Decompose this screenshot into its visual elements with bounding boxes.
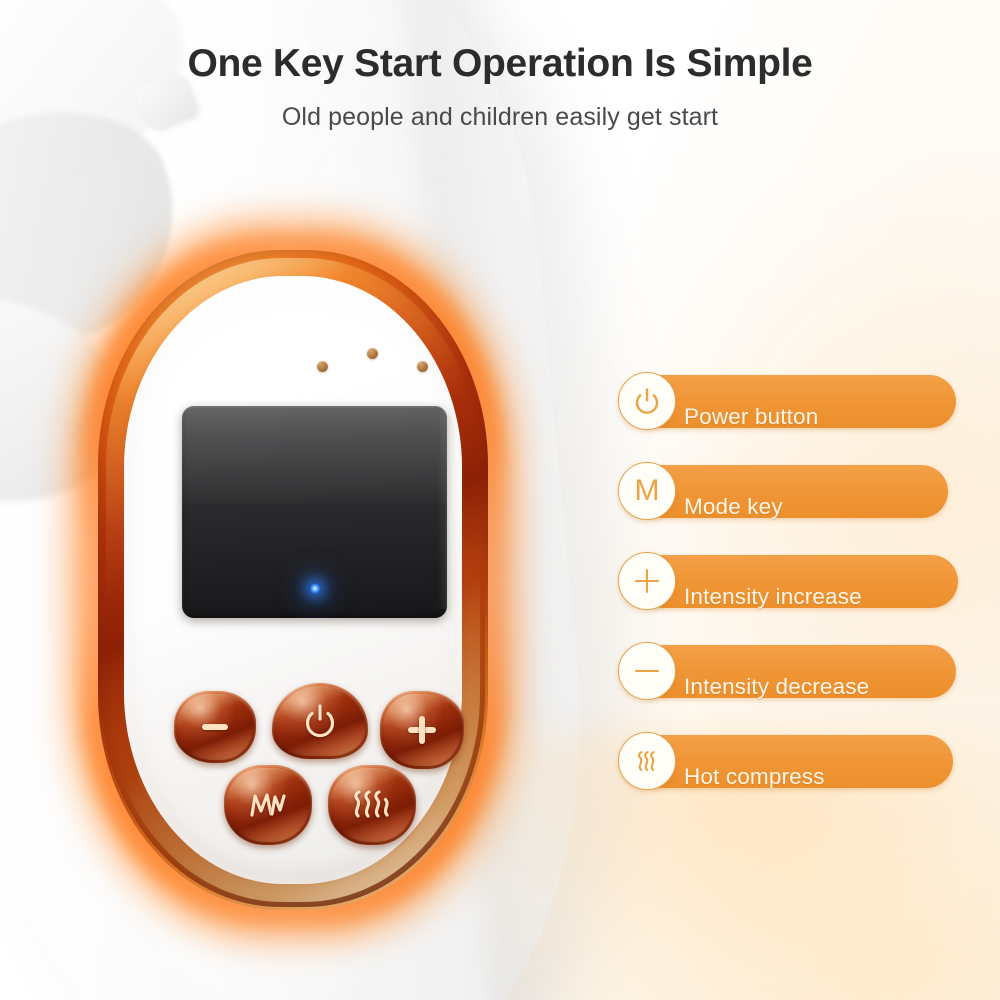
- page-title: One Key Start Operation Is Simple: [0, 42, 1000, 86]
- infographic-stage: One Key Start Operation Is Simple Old pe…: [0, 0, 1000, 1000]
- legend-item-hot-compress[interactable]: Hot compress: [618, 732, 958, 822]
- legend-label: Intensity decrease: [684, 674, 869, 700]
- page-subtitle: Old people and children easily get start: [0, 103, 1000, 132]
- legend-label: Mode key: [684, 494, 783, 520]
- minus-icon: [618, 642, 676, 700]
- legend-item-mode-key[interactable]: Mode key M: [618, 462, 958, 552]
- heat-waves-icon: [328, 765, 416, 845]
- legend-list: Power button Mode key M Intensity increa…: [618, 372, 958, 822]
- mode-m-icon: M: [618, 462, 676, 520]
- mode-m-icon: [224, 765, 312, 845]
- hot-compress-key[interactable]: [328, 765, 416, 845]
- svg-text:M: M: [635, 475, 660, 507]
- power-key[interactable]: [272, 683, 368, 759]
- screen-edge: [438, 410, 447, 609]
- power-icon: [618, 372, 676, 430]
- blue-led-indicator-icon: [309, 583, 320, 594]
- lcd-screen: [182, 406, 447, 618]
- minus-icon: [174, 691, 256, 763]
- legend-item-intensity-increase[interactable]: Intensity increase: [618, 552, 958, 642]
- screen-gloss: [182, 406, 447, 504]
- legend-label: Power button: [684, 404, 818, 430]
- control-pod-device: [98, 250, 488, 910]
- heat-waves-icon: [618, 732, 676, 790]
- mode-key[interactable]: [224, 765, 312, 845]
- intensity-decrease-key[interactable]: [174, 691, 256, 763]
- intensity-increase-key[interactable]: [380, 691, 464, 769]
- sensor-dot-icon: [367, 348, 378, 359]
- legend-item-power-button[interactable]: Power button: [618, 372, 958, 462]
- plus-icon: [618, 552, 676, 610]
- legend-label: Intensity increase: [684, 584, 862, 610]
- legend-item-intensity-decrease[interactable]: Intensity decrease: [618, 642, 958, 732]
- legend-label: Hot compress: [684, 764, 825, 790]
- power-icon: [272, 683, 368, 759]
- device-white-body: [124, 276, 462, 884]
- plus-icon: [380, 691, 464, 769]
- legend-pill: [636, 465, 948, 518]
- sensor-dot-icon: [417, 361, 428, 372]
- sensor-dot-icon: [317, 361, 328, 372]
